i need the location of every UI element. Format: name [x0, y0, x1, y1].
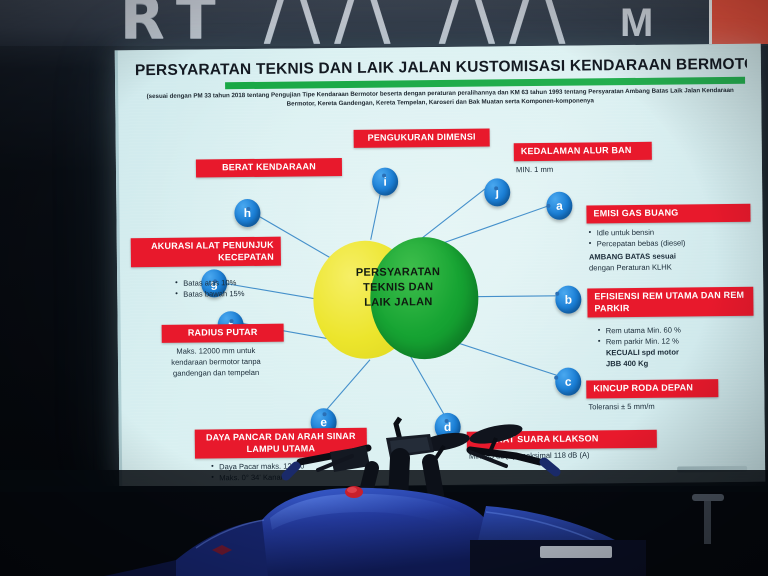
screenshot-stage: RT /\/\ /\/\ M PERSYARATAN TEKNIS DAN LA… — [0, 0, 768, 576]
motorcycle-foreground — [0, 0, 768, 576]
